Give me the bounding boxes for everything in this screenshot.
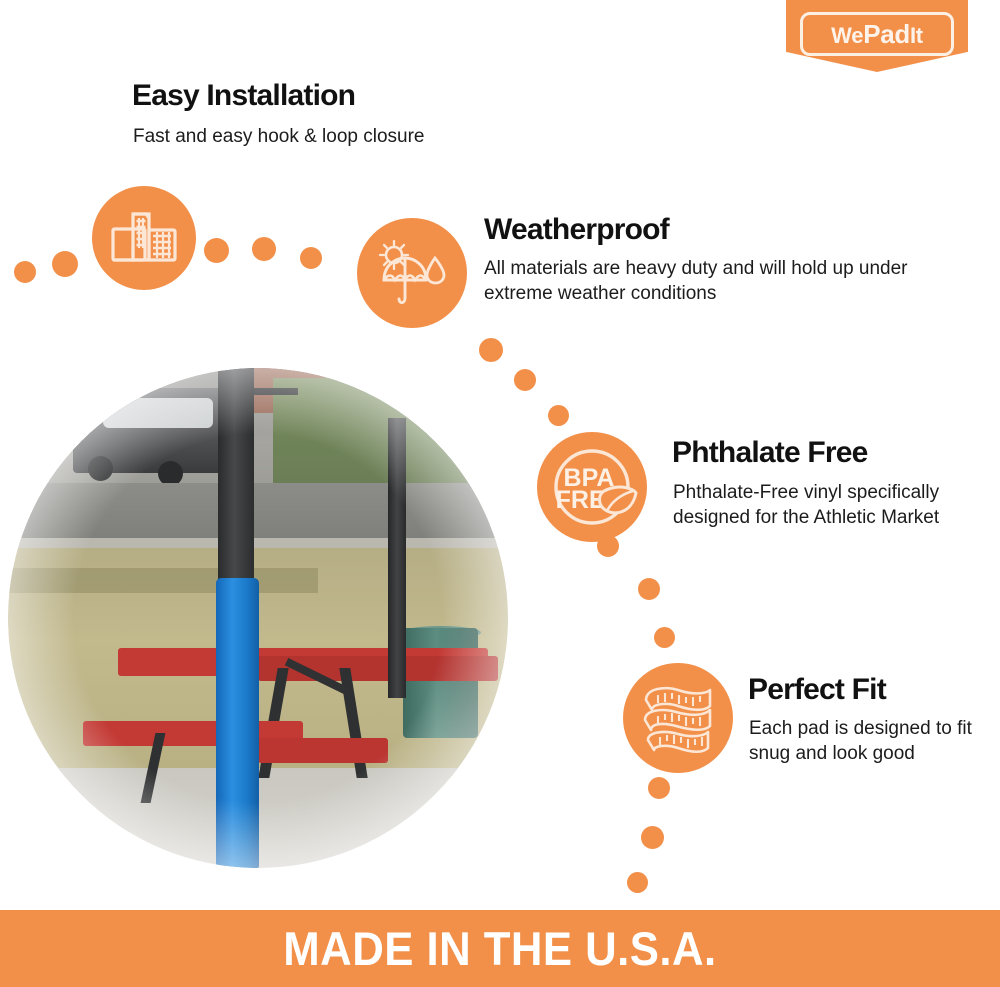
trail-dot xyxy=(252,237,276,261)
trail-dot xyxy=(638,578,660,600)
product-photo-scene xyxy=(8,368,508,868)
buildings-installation-icon xyxy=(92,186,196,290)
photo-picnic-bench xyxy=(258,738,388,763)
photo-grass-shadow xyxy=(8,568,318,593)
feature-title-phthalate-free: Phthalate Free xyxy=(672,437,868,469)
photo-trash-barrel xyxy=(403,628,478,738)
product-photo xyxy=(8,368,508,868)
photo-suv-tire xyxy=(158,461,183,486)
logo-text-we: We xyxy=(831,23,863,48)
made-in-usa-text: MADE IN THE U.S.A. xyxy=(283,921,716,976)
trail-dot xyxy=(654,627,675,648)
trail-dot xyxy=(548,405,569,426)
trail-dot xyxy=(204,238,229,263)
photo-shade-pole xyxy=(388,418,406,698)
trail-dot xyxy=(627,872,648,893)
photo-blue-post-pad xyxy=(216,578,259,868)
bpa-free-leaf-icon: BPA FREE xyxy=(537,432,647,542)
photo-suv-window xyxy=(103,398,213,428)
feature-description-easy-installation: Fast and easy hook & loop closure xyxy=(133,124,553,149)
trail-dot xyxy=(514,369,536,391)
sun-umbrella-raindrop-icon xyxy=(357,218,467,328)
trail-dot xyxy=(300,247,322,269)
infographic-canvas: WePadIt Easy Installation Fast and easy … xyxy=(0,0,1000,987)
feature-title-easy-installation: Easy Installation xyxy=(132,80,355,112)
photo-road xyxy=(8,483,508,543)
trail-dot xyxy=(641,826,664,849)
trail-dot xyxy=(648,777,670,799)
logo-text-it: It xyxy=(910,23,923,48)
feature-title-weatherproof: Weatherproof xyxy=(484,214,669,246)
photo-suv-tire xyxy=(88,456,113,481)
measuring-tape-icon xyxy=(623,663,733,773)
made-in-usa-banner: MADE IN THE U.S.A. xyxy=(0,910,1000,987)
trail-dot xyxy=(479,338,503,362)
logo-text-pad: Pad xyxy=(863,19,910,49)
feature-description-phthalate-free: Phthalate-Free vinyl specifically design… xyxy=(673,480,943,531)
trail-dot xyxy=(52,251,78,277)
feature-description-weatherproof: All materials are heavy duty and will ho… xyxy=(484,256,914,307)
trail-dot xyxy=(14,261,36,283)
logo-outline-box: WePadIt xyxy=(800,12,954,56)
feature-title-perfect-fit: Perfect Fit xyxy=(748,674,886,706)
logo-text: WePadIt xyxy=(831,21,923,47)
photo-main-pole xyxy=(218,368,254,598)
feature-description-perfect-fit: Each pad is designed to fit snug and loo… xyxy=(749,716,979,767)
brand-logo: WePadIt xyxy=(786,0,968,72)
